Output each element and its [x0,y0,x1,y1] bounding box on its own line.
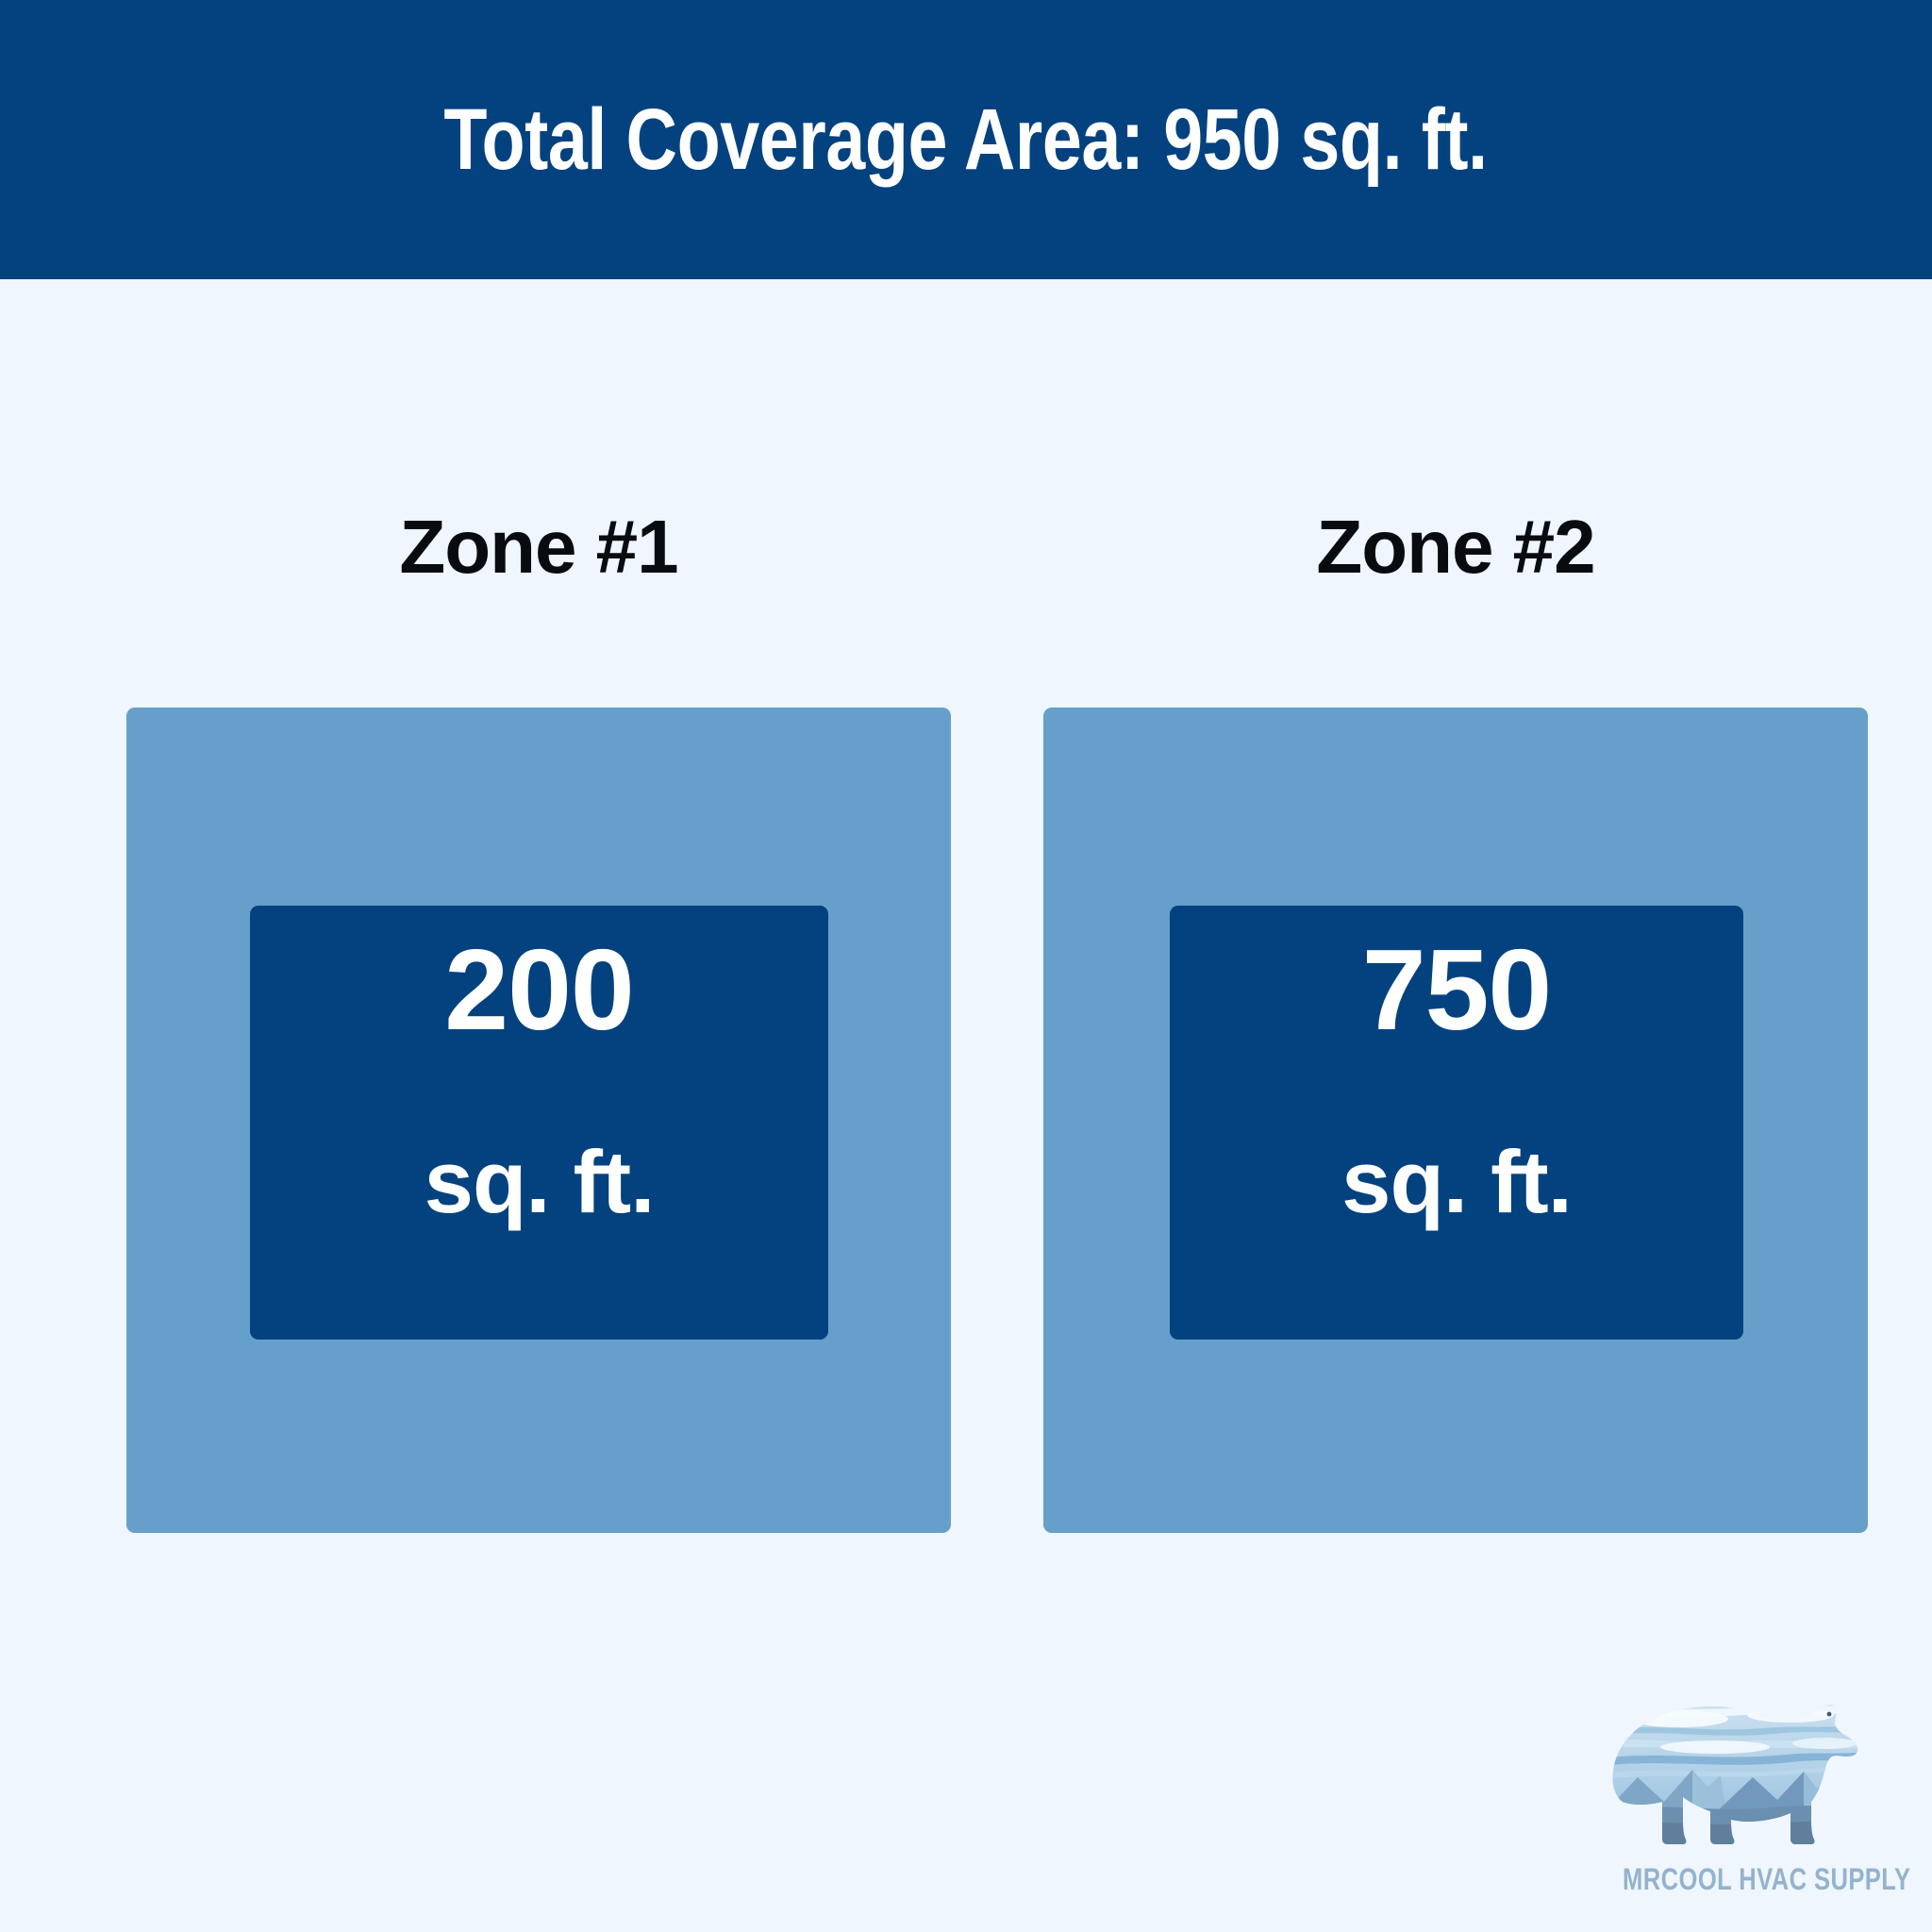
bear-landscape-fill [1602,1690,1885,1858]
zone-2-label: Zone #2 [1043,509,1868,585]
zone-1-outer-area: 200 sq. ft. [126,708,951,1533]
zone-card-2: Zone #2 750 sq. ft. [1043,708,1868,1533]
logo-wordmark: MRCOOL HVAC SUPPLY [1623,1864,1864,1894]
zone-card-1: Zone #1 200 sq. ft. [126,708,951,1533]
zone-2-outer-area: 750 sq. ft. [1043,708,1868,1533]
zone-1-label: Zone #1 [126,509,951,585]
zone-1-inner-area: 200 sq. ft. [250,906,828,1340]
zone-2-inner-area: 750 sq. ft. [1170,906,1743,1340]
page-title: Total Coverage Area: 950 sq. ft. [444,96,1488,183]
zones-container: Zone #1 200 sq. ft. Zone #2 750 sq. ft. [0,279,1932,1932]
header-banner: Total Coverage Area: 950 sq. ft. [0,0,1932,279]
bear-eye-icon [1827,1712,1832,1717]
zone-1-unit: sq. ft. [425,1138,655,1226]
brand-logo: MRCOOL HVAC SUPPLY [1592,1690,1894,1909]
zone-2-unit: sq. ft. [1341,1138,1572,1226]
zone-1-value: 200 [444,932,634,1047]
zone-2-value: 750 [1362,932,1552,1047]
polar-bear-icon [1602,1690,1885,1858]
